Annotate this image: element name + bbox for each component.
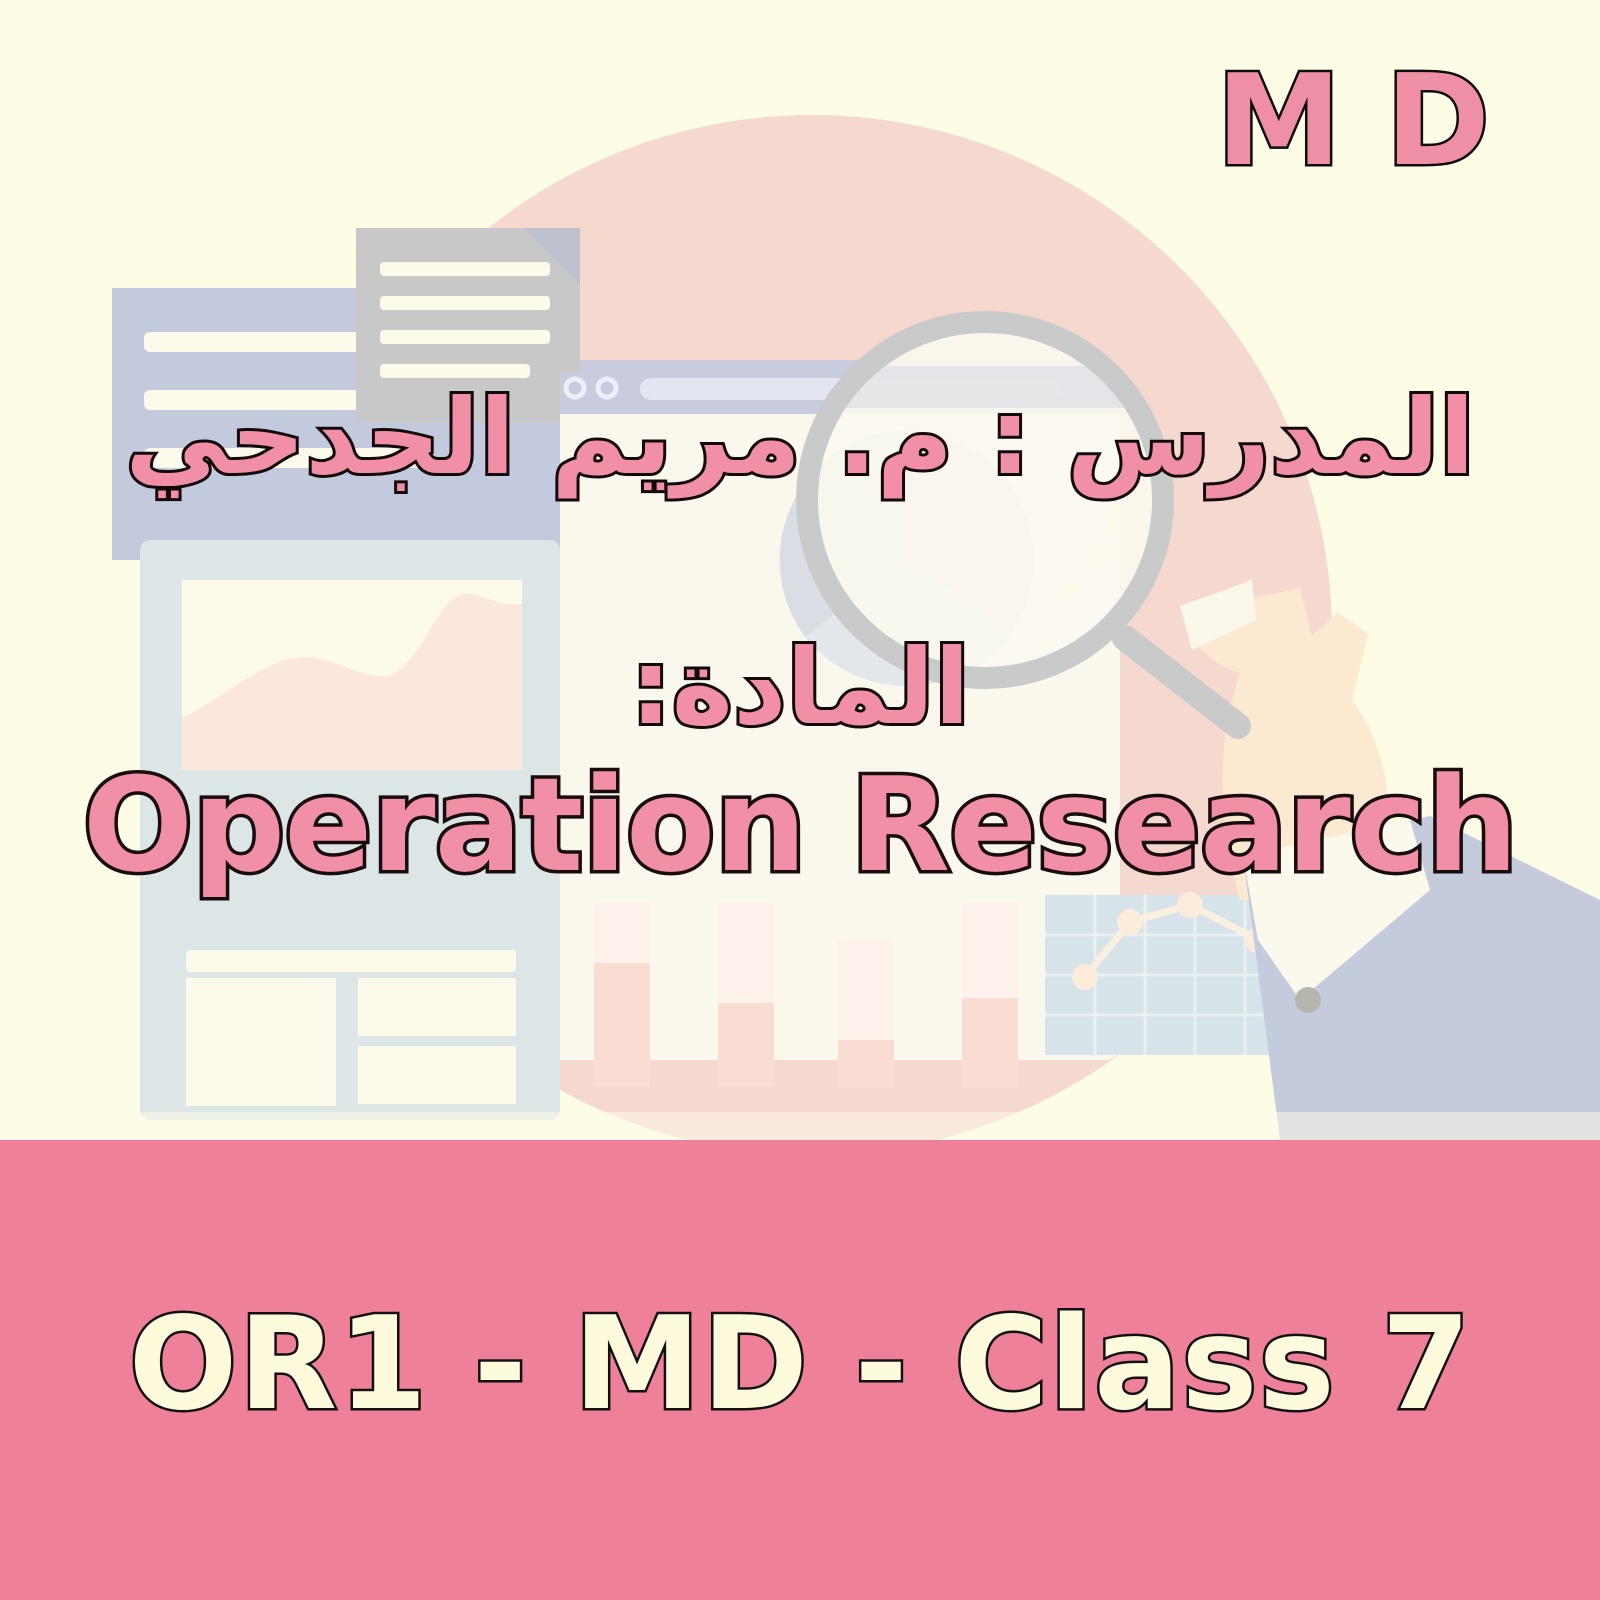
teacher-line: المدرس : م. مريم الجدحي [0, 378, 1600, 498]
text-overlay: M D المدرس : م. مريم الجدحي المادة: Oper… [0, 0, 1600, 1140]
banner-title: OR1 - MD - Class 7 [129, 1301, 1472, 1429]
bottom-banner: OR1 - MD - Class 7 [0, 1140, 1600, 1600]
md-badge: M D [1216, 58, 1490, 184]
subject-name: Operation Research [0, 760, 1600, 890]
subject-label: المادة: [0, 630, 1600, 744]
poster-canvas: M D المدرس : م. مريم الجدحي المادة: Oper… [0, 0, 1600, 1600]
